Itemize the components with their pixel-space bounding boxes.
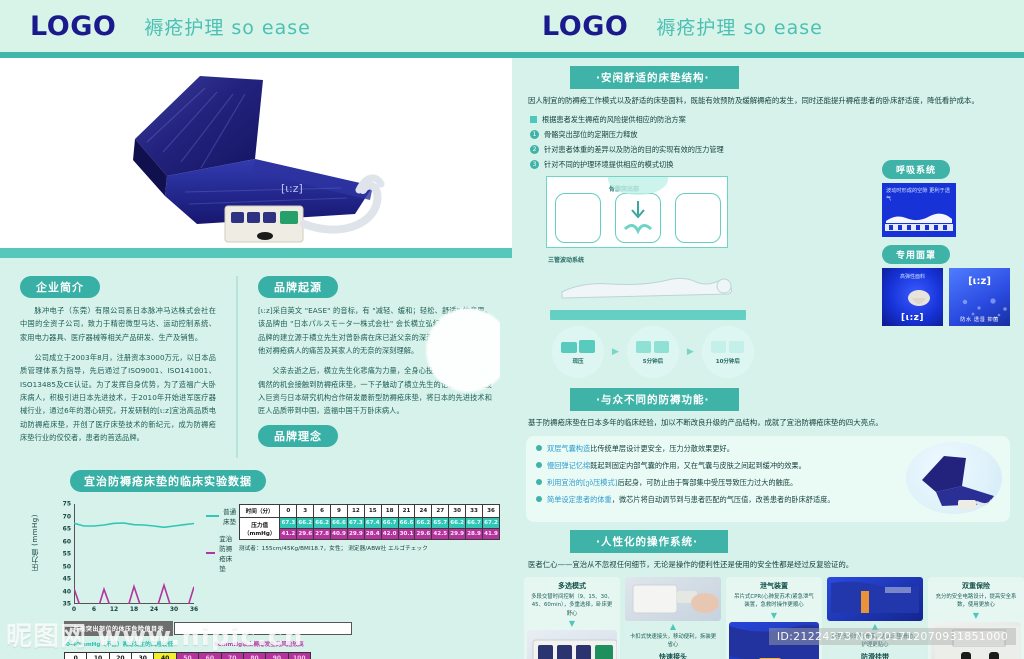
right-page: LOGO 褥疮护理 so ease ·安闲舒适的床垫结构· 因人制宜的防褥疮工作… xyxy=(512,0,1024,659)
table-cell: 30.1 xyxy=(398,529,415,540)
scale-cell-50: 50 xyxy=(177,653,199,659)
slogan-part-1: 因人制 xyxy=(258,461,312,463)
stage-1-icon xyxy=(635,339,671,355)
stage-circle-2: 10分钟后 xyxy=(702,326,754,378)
legend-swatch-normal xyxy=(206,515,219,517)
function-highlight: 双层气囊构造 xyxy=(547,444,590,453)
scale-cell-10: 10 xyxy=(87,653,109,659)
function-item-text: 双层气囊构造比传统单层设计更安全，压力分散效果更好。 xyxy=(547,444,734,454)
scale-cell-40: 40 xyxy=(154,653,176,659)
y-tick-60: 60 xyxy=(63,538,71,545)
svg-text:[ι:z]: [ι:z] xyxy=(281,182,303,195)
y-tick-45: 45 xyxy=(63,576,71,583)
table-cell: 66.2 xyxy=(415,518,432,529)
safety-label-icon xyxy=(931,622,1021,659)
logo-text-right: LOGO xyxy=(542,11,628,42)
ops-title-2: 泄气装置 xyxy=(729,581,819,591)
risk-scale-title: 有能突出部位的体压危险值目录 xyxy=(64,621,173,636)
structure-point-2-text: 针对患者体重的差异以及防治的目的实现有效的压力管理 xyxy=(544,145,724,155)
chart-plot-area: 354045505560657075 061218243036 xyxy=(74,504,194,604)
x-tick-12: 12 xyxy=(110,606,118,613)
ops-photo-connector xyxy=(625,577,721,621)
brand-idea-slogan: 因人制宜 以防代治 xyxy=(258,457,492,463)
y-tick-40: 40 xyxy=(63,588,71,595)
ops-title-4: 双重保险 xyxy=(931,581,1021,591)
table-cell: 29.6 xyxy=(297,529,314,540)
table-col-9: 9 xyxy=(331,505,348,518)
pressure-diagram: 骨骼突出部 三管波动系统 xyxy=(546,176,796,378)
stage-circle-0: 现压 xyxy=(552,326,604,378)
anti-slip-strap-icon xyxy=(827,577,923,621)
brochure-spread: LOGO 褥疮护理 so ease xyxy=(0,0,1024,659)
decorative-blob xyxy=(426,308,500,392)
chart-legend: 普通床垫 宜治防褥疮床垫 xyxy=(206,506,239,580)
table-col-33: 33 xyxy=(466,505,483,518)
table-cell: 67.2 xyxy=(482,518,499,529)
bullet-dot-icon xyxy=(536,445,542,451)
ops-photo-antislip xyxy=(827,577,923,621)
clinical-data-table-area: 时间（分）0369121518212427303336压力值（mmHg）67.3… xyxy=(239,500,500,612)
stage-circles: 现压 ▶ 5分钟后 ▶ xyxy=(552,326,796,378)
header-slogan: 褥疮护理 so ease xyxy=(144,13,311,40)
legend-item-normal: 普通床垫 xyxy=(206,506,239,526)
scale-cell-80: 80 xyxy=(244,653,266,659)
table-col-15: 15 xyxy=(364,505,381,518)
scale-cell-100: 100 xyxy=(289,653,310,659)
table-col-36: 36 xyxy=(482,505,499,518)
brand-idea-block: 品牌理念 因人制宜 以防代治 xyxy=(258,425,492,463)
table-cell: 41.9 xyxy=(482,529,499,540)
x-tick-30: 30 xyxy=(170,606,178,613)
left-page: LOGO 褥疮护理 so ease xyxy=(0,0,512,659)
company-intro-p1: 脉冲电子（东莞）有限公司系日本脉冲马达株式会社在中国的全资子公司，致力于精密微型… xyxy=(20,304,216,344)
bed-strip xyxy=(550,310,746,320)
ops-card-multi-mode: 多选模式 多段交替时间控制（9、15、30、45、60min），多重选择，卧床更… xyxy=(524,577,620,659)
ops-photo-controller xyxy=(527,630,617,659)
patient-lying-illustration xyxy=(548,266,758,306)
series-line-1 xyxy=(74,585,194,604)
ops-photo-cpr xyxy=(729,622,819,659)
scale-cell-30: 30 xyxy=(132,653,154,659)
bullet-dot-icon xyxy=(536,496,542,502)
function-highlight: 简单设定患者的体重 xyxy=(547,495,612,504)
air-cell-illustration xyxy=(882,211,956,233)
ops-card-anti-slip: ▲ 床垫头部的防滑带，防止床垫滑动，护理更贴心 防滑挂带 xyxy=(827,577,923,659)
mattress-thumb-icon xyxy=(906,442,1002,514)
left-content: 企业简介 脉冲电子（东莞）有限公司系日本脉冲马达株式会社在中国的全资子公司，致力… xyxy=(0,258,512,659)
table-col-6: 6 xyxy=(314,505,331,518)
triangle-down-icon-4: ▼ xyxy=(931,612,1021,620)
structure-point-2: 2 针对患者体重的差异以及防治的目的实现有效的压力管理 xyxy=(530,145,1024,155)
breathing-system-caption: 波动时形成的空隙 更利于透气 xyxy=(882,183,956,204)
hero-product-area: [ι:z] xyxy=(0,58,512,258)
table-col-12: 12 xyxy=(347,505,364,518)
company-intro-title: 企业简介 xyxy=(20,276,100,298)
structure-point-1-text: 骨骼突出部位的定期压力释放 xyxy=(544,130,637,140)
number-1-icon: 1 xyxy=(530,130,539,139)
ops-text-3: 床垫头部的防滑带，防止床垫滑动，护理更贴心 xyxy=(827,633,923,650)
function-highlight: 慢回弹记忆绵 xyxy=(547,461,590,470)
cpr-tag-icon xyxy=(729,622,819,659)
table-cell: 29.9 xyxy=(449,529,466,540)
stage-0-icon xyxy=(560,339,596,355)
table-cell: 42.0 xyxy=(381,529,398,540)
stage-0-caption: 现压 xyxy=(572,357,583,365)
legend-swatch-zz xyxy=(206,552,215,554)
function-item-text: 利用宜治的[ებ压模式]后起身，可防止由于臀部集中受压导致压力过大的触底。 xyxy=(547,478,797,488)
table-cell: 66.2 xyxy=(314,518,331,529)
table-col-30: 30 xyxy=(449,505,466,518)
y-tick-65: 65 xyxy=(63,526,71,533)
table-cell: 41.2 xyxy=(280,529,297,540)
x-tick-18: 18 xyxy=(130,606,138,613)
clinical-data-title: 宜治防褥疮床垫的临床实验数据 xyxy=(70,470,266,492)
legend-label-zz: 宜治防褥疮床垫 xyxy=(219,533,238,573)
stage-2-caption: 10分钟后 xyxy=(716,357,740,365)
bullet-dot-icon xyxy=(536,462,542,468)
table-cell: 66.2 xyxy=(449,518,466,529)
stage-arrow-1-icon: ▶ xyxy=(612,347,619,357)
square-bullet-icon xyxy=(530,116,537,123)
series-line-0 xyxy=(74,523,194,527)
ops-card-cpr: 泄气装置 吊片式CPR(心肺复苏术)紧急泄气装置，急救时操作更顺心 ▼ xyxy=(726,577,822,659)
structure-point-3-text: 针对不同的护理环境提供相应的模式切换 xyxy=(544,160,673,170)
stage-circle-1: 5分钟后 xyxy=(627,326,679,378)
chart-series-lines xyxy=(74,504,194,604)
chart-y-axis-label: 压力值 (mmHg) xyxy=(30,514,40,571)
risk-note-low: 0-40mmHg（不含）褥疮发生的风险较低 xyxy=(66,640,173,648)
header-slogan-right: 褥疮护理 so ease xyxy=(656,13,823,40)
table-time-header: 时间（分） xyxy=(239,505,280,518)
section-structure-heading: ·安闲舒适的床垫结构· xyxy=(570,66,739,89)
structure-lead-bullet: 根据患者发生褥疮的风险提供相应的防治方案 xyxy=(530,115,1024,125)
y-tick-55: 55 xyxy=(63,551,71,558)
bullet-dot-icon xyxy=(536,479,542,485)
ops-card-quick-connector: ▲ 卡扣式快速接头，移动便利，拆装更省心 快速接头 xyxy=(625,577,721,659)
ops-bottom-label-1: 快速接头 xyxy=(625,652,721,659)
ops-text-4: 充分的安全电路设计，提高安全系数，使用更放心 xyxy=(931,593,1021,610)
table-col-21: 21 xyxy=(398,505,415,518)
functions-product-photo xyxy=(906,442,1002,514)
y-tick-75: 75 xyxy=(63,501,71,508)
ops-photo-safety xyxy=(931,622,1021,659)
table-pressure-header: 压力值（mmHg） xyxy=(239,518,280,540)
number-3-icon: 3 xyxy=(530,160,539,169)
risk-scale-row: 0102030405060708090100 xyxy=(64,652,311,659)
operation-cards-grid: 多选模式 多段交替时间控制（9、15、30、45、60min），多重选择，卧床更… xyxy=(524,577,1012,659)
section-operation-intro: 医者仁心——宜治从不忽视任何细节，无论是操作的便利性还是使用的安全性都是经过反复… xyxy=(528,558,1008,571)
section-functions-intro: 基于防褥疮床垫在日本多年的临床经验，加以不断改良升级的产品结构，成就了宜治防褥疮… xyxy=(528,416,1008,429)
table-cell: 65.7 xyxy=(432,518,449,529)
clinical-data-panel: 宜治防褥疮床垫的临床实验数据 压力值 (mmHg) 35404550556065… xyxy=(12,470,500,655)
slogan-part-2: 宜 xyxy=(312,461,330,463)
triangle-up-icon-1: ▲ xyxy=(625,623,721,631)
ops-text-2: 吊片式CPR(心肺复苏术)紧急泄气装置，急救时操作更顺心 xyxy=(729,593,819,610)
tester-note: 测试者：155cm/45Kg/BMI18.7，女性； 测定器/ABW社 エルゴチ… xyxy=(239,544,500,552)
ops-card-double-safety: 双重保险 充分的安全电路设计，提高安全系数，使用更放心 ▼ xyxy=(928,577,1024,659)
x-tick-6: 6 xyxy=(92,606,96,613)
ops-text-1: 卡扣式快速接头，移动便利，拆装更省心 xyxy=(625,633,721,650)
table-row: 压力值（mmHg）67.366.266.266.667.367.466.766.… xyxy=(239,518,499,529)
table-col-0: 0 xyxy=(280,505,297,518)
company-intro-card: 企业简介 脉冲电子（东莞）有限公司系日本脉冲马达株式会社在中国的全资子公司，致力… xyxy=(12,272,224,462)
structure-point-1: 1 骨骼突出部位的定期压力释放 xyxy=(530,130,1024,140)
right-header: LOGO 褥疮护理 so ease xyxy=(512,0,1024,58)
diagram-system-caption: 三管波动系统 xyxy=(548,255,796,264)
side-feature-column: 呼吸系统 波动时形成的空隙 更利于透气 专用面罩 高 xyxy=(882,158,1010,326)
mask-waterproof-image: [ι:z] 防水 透湿 抑菌 xyxy=(949,268,1010,326)
table-cell: 29.9 xyxy=(347,529,364,540)
triangle-down-icon-2: ▼ xyxy=(729,612,819,620)
breathing-system-image: 波动时形成的空隙 更利于透气 xyxy=(882,183,956,237)
diagram-cells-box: 骨骼突出部 xyxy=(546,176,728,248)
brand-idea-title: 品牌理念 xyxy=(258,425,338,447)
x-tick-36: 36 xyxy=(190,606,198,613)
stage-arrow-2-icon: ▶ xyxy=(687,347,694,357)
functions-card: 双层气囊构造比传统单层设计更安全，压力分散效果更好。慢回弹记忆绵既起到固定内部气… xyxy=(526,436,1010,522)
x-tick-24: 24 xyxy=(150,606,158,613)
risk-scale-notes: 0-40mmHg（不含）褥疮发生的风险较低 50mmHg以上褥疮发生的风险较高 xyxy=(64,640,500,651)
y-tick-35: 35 xyxy=(63,601,71,608)
risk-scale-block: 有能突出部位的体压危险值目录 0-40mmHg（不含）褥疮发生的风险较低 50m… xyxy=(64,618,500,659)
ops-title-0: 多选模式 xyxy=(527,581,617,591)
section-operation-heading: ·人性化的操作系统· xyxy=(570,530,728,553)
function-item-text: 慢回弹记忆绵既起到固定内部气囊的作用，又在气囊与皮肤之间起到缓冲的效果。 xyxy=(547,461,806,471)
pressure-line-chart: 压力值 (mmHg) 354045505560657075 0612182430… xyxy=(34,500,233,612)
mask-fabric-image: 高弹性面料 [ι:z] xyxy=(882,268,943,326)
ops-text-0: 多段交替时间控制（9、15、30、45、60min），多重选择，卧床更舒心 xyxy=(527,593,617,618)
company-intro-p2: 公司成立于2003年8月，注册资本3000万元，以日本品质管理体系为指导，先后通… xyxy=(20,351,216,444)
mask-right-caption: 防水 透湿 抑菌 xyxy=(949,316,1010,323)
controller-panel-icon xyxy=(527,630,617,659)
brand-origin-title: 品牌起源 xyxy=(258,276,338,298)
table-cell: 66.7 xyxy=(466,518,483,529)
table-cell: 67.4 xyxy=(364,518,381,529)
function-item-text: 简单设定患者的体重，微芯片将自动调节到与患者匹配的气压值，改善患者的卧床舒适度。 xyxy=(547,495,835,505)
triangle-down-icon-0: ▼ xyxy=(527,620,617,628)
brand-origin-card: 品牌起源 [ι:z]采自英文 "EASE" 的音标，有 "减轻、缓和；轻松、舒适… xyxy=(250,272,500,462)
right-content: ·安闲舒适的床垫结构· 因人制宜的防褥疮工作模式以及舒适的床垫面料，既能有效预防… xyxy=(512,58,1024,659)
mattress-product-image: [ι:z] xyxy=(105,64,405,250)
mask-left-logo: [ι:z] xyxy=(882,313,943,323)
scale-cell-90: 90 xyxy=(266,653,288,659)
scale-cell-70: 70 xyxy=(222,653,244,659)
hero-accent-bar xyxy=(0,248,512,258)
risk-scale-input[interactable] xyxy=(174,622,352,635)
table-col-27: 27 xyxy=(432,505,449,518)
logo-text: LOGO xyxy=(30,11,116,42)
left-header: LOGO 褥疮护理 so ease xyxy=(0,0,512,58)
slogan-part-3: 以防代 xyxy=(330,461,392,463)
number-2-icon: 2 xyxy=(530,145,539,154)
y-tick-50: 50 xyxy=(63,563,71,570)
function-highlight: 利用宜治的[ებ压模式] xyxy=(547,478,617,487)
table-cell: 67.3 xyxy=(347,518,364,529)
table-cell: 67.3 xyxy=(280,518,297,529)
risk-note-high: 50mmHg以上褥疮发生的风险较高 xyxy=(214,640,304,648)
mask-images-row: 高弹性面料 [ι:z] [ι:z] xyxy=(882,268,1010,326)
x-tick-0: 0 xyxy=(72,606,76,613)
legend-item-zz: 宜治防褥疮床垫 xyxy=(206,533,239,573)
slogan-part-4: 治 xyxy=(392,461,410,463)
table-cell: 66.6 xyxy=(331,518,348,529)
table-cell: 29.6 xyxy=(415,529,432,540)
table-cell: 42.5 xyxy=(432,529,449,540)
table-header-row: 时间（分）0369121518212427303336 xyxy=(239,505,499,518)
scale-cell-0: 0 xyxy=(65,653,87,659)
table-cell: 40.9 xyxy=(331,529,348,540)
breathing-system-title: 呼吸系统 xyxy=(882,160,950,179)
clinical-data-table: 时间（分）0369121518212427303336压力值（mmHg）67.3… xyxy=(239,504,500,540)
stage-2-icon xyxy=(710,339,746,355)
ops-bottom-label-3: 防滑挂带 xyxy=(827,652,923,659)
table-cell: 66.7 xyxy=(381,518,398,529)
section-structure-intro: 因人制宜的防褥疮工作模式以及舒适的床垫面料，既能有效预防及缓解褥疮的发生，同时还… xyxy=(528,94,1008,107)
legend-label-normal: 普通床垫 xyxy=(223,506,238,526)
table-cell: 66.6 xyxy=(398,518,415,529)
section-functions-heading: ·与众不同的防褥功能· xyxy=(570,388,739,411)
mask-title: 专用面罩 xyxy=(882,245,950,264)
column-divider xyxy=(236,276,238,458)
table-col-24: 24 xyxy=(415,505,432,518)
y-tick-70: 70 xyxy=(63,513,71,520)
table-col-3: 3 xyxy=(297,505,314,518)
table-cell: 28.4 xyxy=(364,529,381,540)
table-col-18: 18 xyxy=(381,505,398,518)
scale-cell-20: 20 xyxy=(110,653,132,659)
triangle-up-icon-3: ▲ xyxy=(827,623,923,631)
table-cell: 66.2 xyxy=(297,518,314,529)
table-cell: 28.9 xyxy=(466,529,483,540)
diagram-arrow-icon xyxy=(547,177,729,249)
connector-hand-icon xyxy=(625,577,721,621)
scale-cell-60: 60 xyxy=(199,653,221,659)
structure-lead-text: 根据患者发生褥疮的风险提供相应的防治方案 xyxy=(542,115,686,125)
stage-1-caption: 5分钟后 xyxy=(643,357,663,365)
table-cell: 27.8 xyxy=(314,529,331,540)
